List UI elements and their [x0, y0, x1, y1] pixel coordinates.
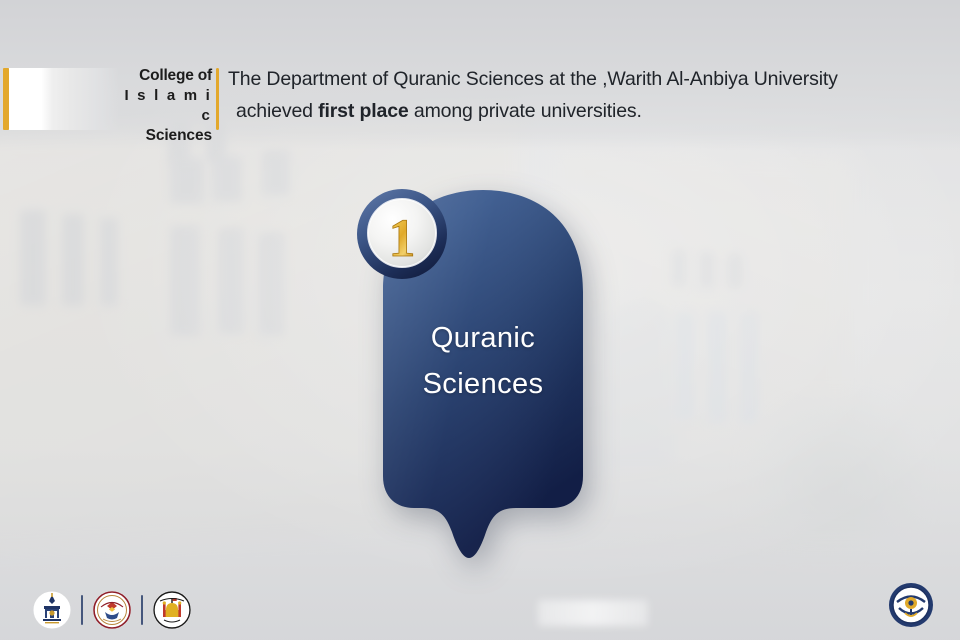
header-divider: [216, 68, 219, 130]
logo-panel-fade: [71, 68, 119, 130]
al-abbas-holy-shrine-emblem-icon[interactable]: [32, 590, 72, 630]
college-name-line-3: Sciences: [116, 126, 212, 146]
college-name-line-2: I s l a m i c: [116, 86, 212, 126]
headline-line-2-prefix: achieved: [236, 100, 318, 122]
headline-text: The Department of Quranic Sciences at th…: [228, 64, 946, 127]
headline-line-1: The Department of Quranic Sciences at th…: [228, 68, 838, 90]
pin-label: Quranic Sciences: [383, 316, 583, 408]
headline-line-2-suffix: among private universities.: [409, 100, 642, 122]
pin-label-line-2: Sciences: [383, 362, 583, 408]
atabat-foundation-emblem-icon[interactable]: [152, 590, 192, 630]
warith-al-anbiya-university-seal-icon[interactable]: [888, 582, 934, 628]
footer-watermark: [538, 600, 648, 626]
partner-logos: [32, 590, 192, 630]
logo-panel: [9, 68, 71, 130]
college-name-line-1: College of: [116, 66, 212, 86]
rank-pin[interactable]: Quranic Sciences: [330, 176, 630, 576]
footer-bar: [0, 560, 960, 640]
pin-label-line-1: Quranic: [383, 316, 583, 362]
islamic-university-emblem-icon[interactable]: [92, 590, 132, 630]
headline-line-2: achieved first place among private unive…: [228, 96, 946, 128]
college-logo: [3, 68, 119, 130]
partner-logo-separator: [81, 595, 83, 625]
headline-emphasis: first place: [318, 100, 408, 122]
college-name: College of I s l a m i c Sciences: [116, 66, 212, 147]
rank-medal-badge[interactable]: 1: [354, 186, 450, 282]
partner-logo-separator: [141, 595, 143, 625]
header-bar: College of I s l a m i c Sciences The De…: [0, 0, 960, 150]
rank-number: 1: [389, 208, 416, 268]
